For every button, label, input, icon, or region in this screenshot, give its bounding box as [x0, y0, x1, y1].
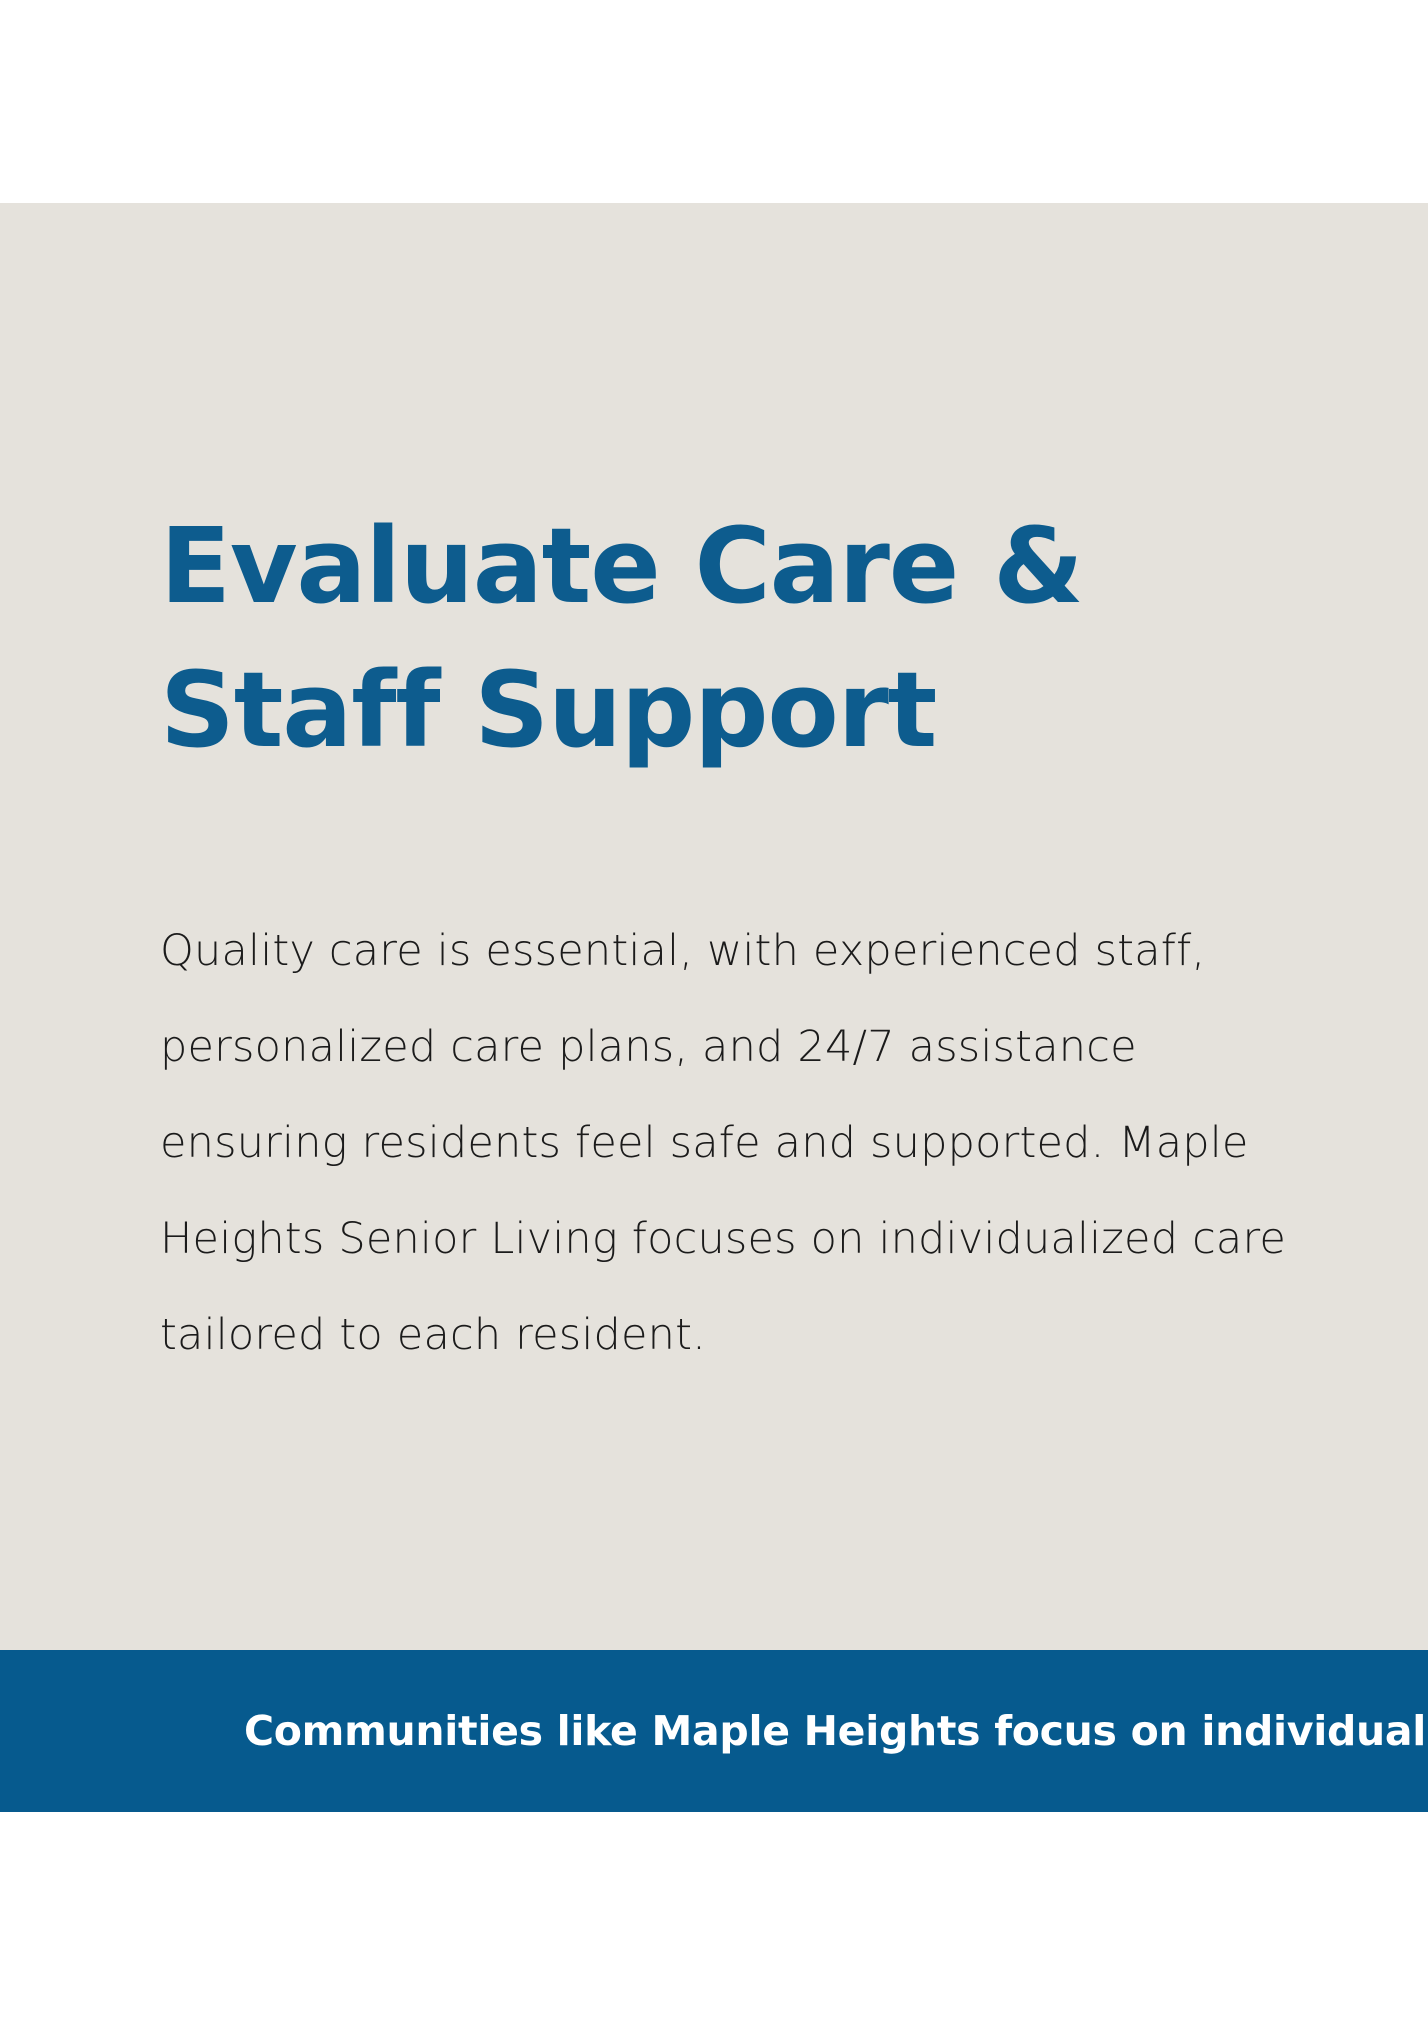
body-paragraph: Quality care is essential, with experien…: [160, 903, 1428, 1383]
body-paragraph-line-5: tailored to each resident.: [160, 1287, 1428, 1383]
page-title-line-2: Staff Support: [160, 639, 1083, 783]
body-paragraph-line-4: Heights Senior Living focuses on individ…: [160, 1191, 1428, 1287]
content-card-inner: Evaluate Care & Staff Support Quality ca…: [160, 203, 1428, 1650]
content-card: Evaluate Care & Staff Support Quality ca…: [0, 203, 1428, 1650]
footer-banner: Communities like Maple Heights focus on …: [0, 1650, 1428, 1812]
page-title: Evaluate Care & Staff Support: [160, 495, 1083, 782]
page-title-line-1: Evaluate Care &: [160, 495, 1083, 639]
slide-page: Evaluate Care & Staff Support Quality ca…: [0, 0, 1428, 2018]
body-paragraph-line-1: Quality care is essential, with experien…: [160, 903, 1428, 999]
footer-banner-caption: Communities like Maple Heights focus on …: [244, 1650, 1428, 1812]
body-paragraph-line-3: ensuring residents feel safe and support…: [160, 1095, 1428, 1191]
body-paragraph-line-2: personalized care plans, and 24/7 assist…: [160, 999, 1428, 1095]
